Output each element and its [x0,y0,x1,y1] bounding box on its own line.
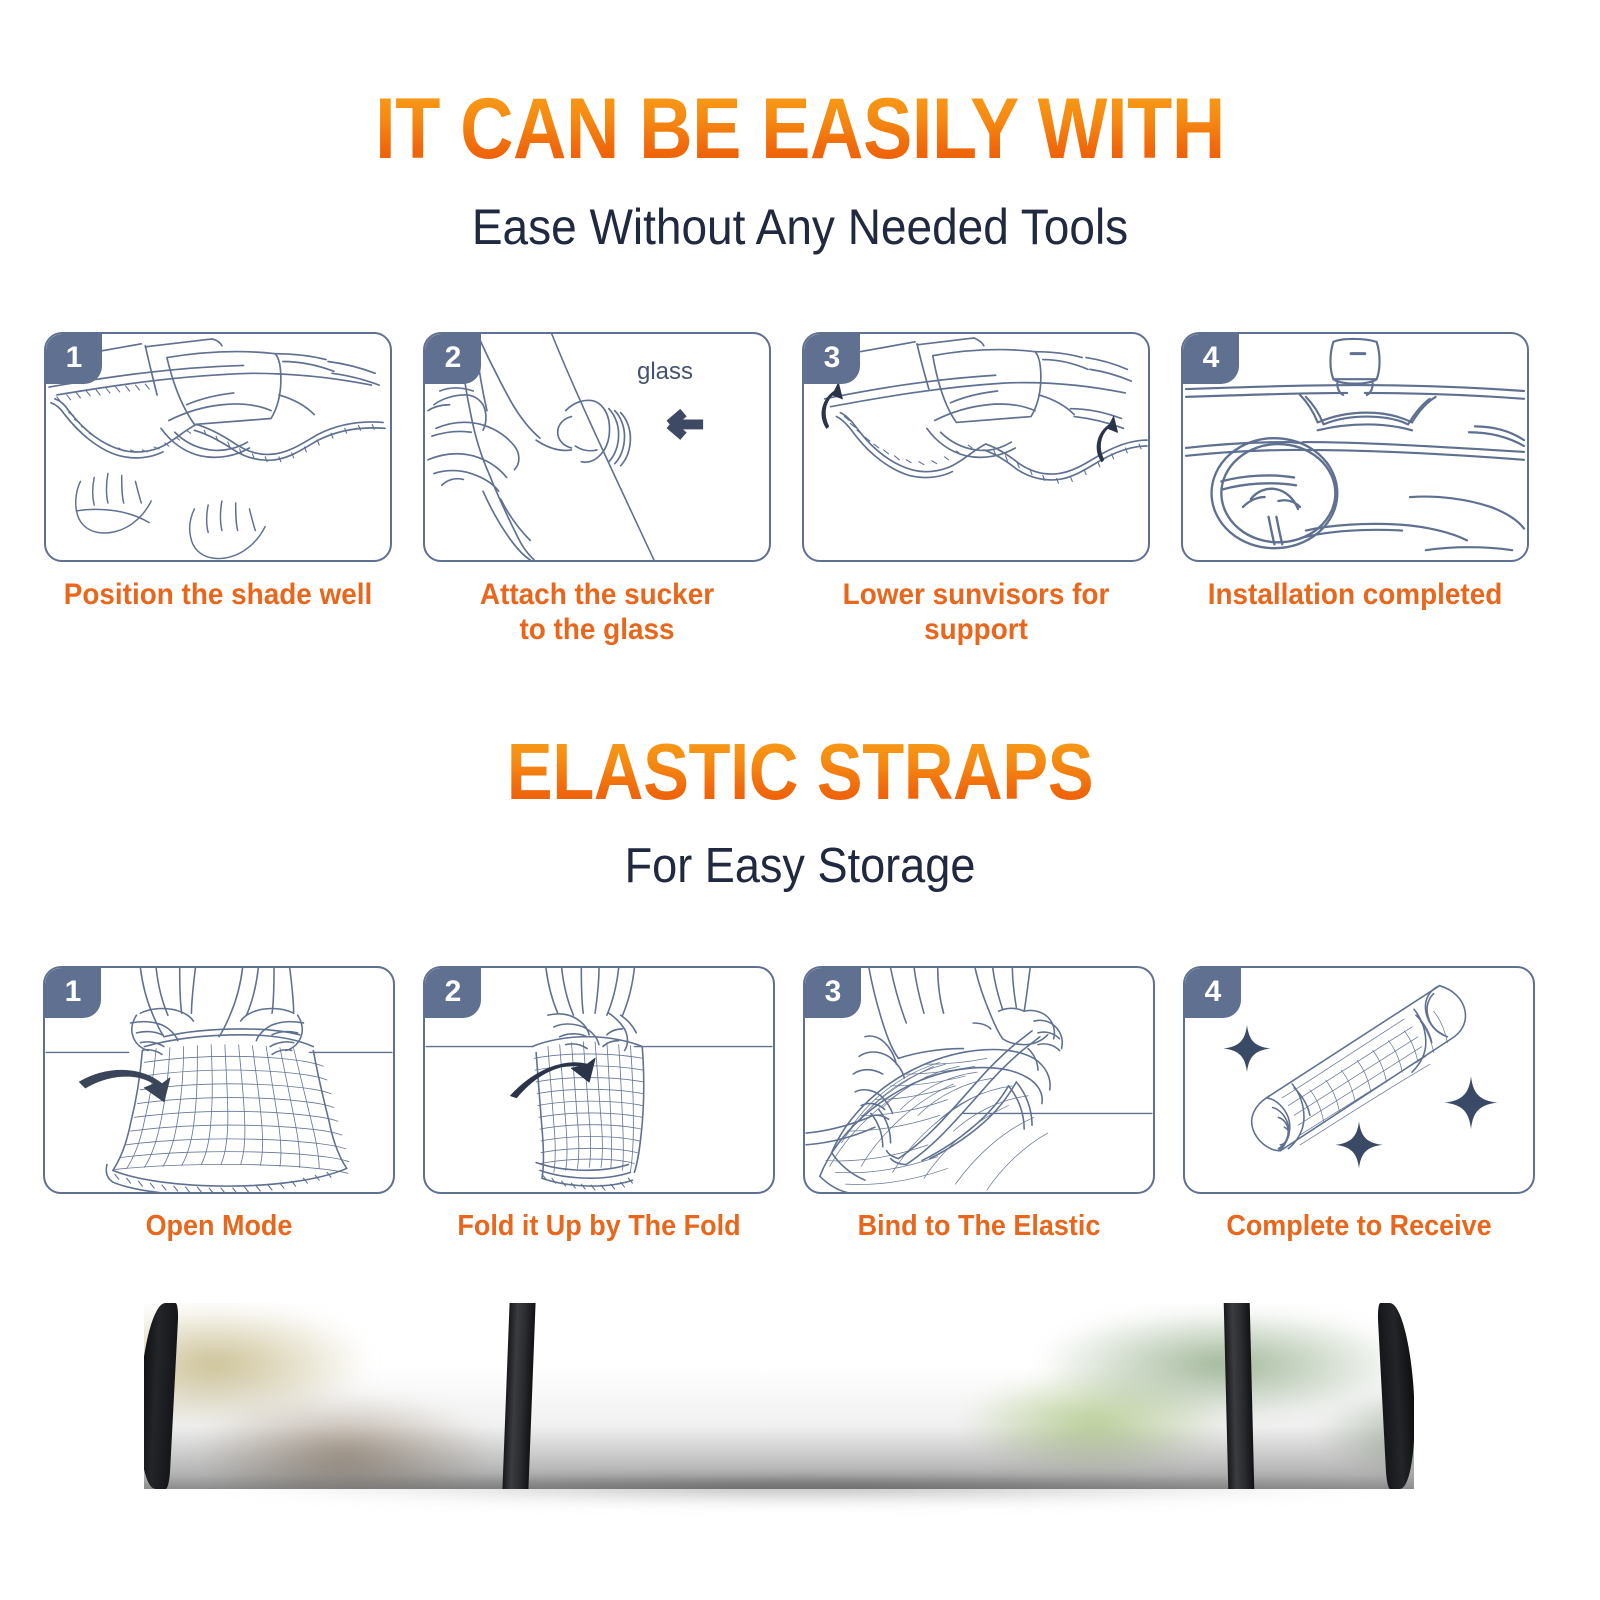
step-caption: Position the shade well [56,578,380,613]
step-caption: Complete to Receive [1195,1210,1522,1244]
section-two-title: ELASTIC STRAPS [112,732,1488,812]
step-card: 2 Fold it Up by The Fold [423,966,775,1244]
cylinder-shading [44,1303,1556,1489]
step-caption: Attach the sucker to the glass [435,578,759,648]
step-card: 4 Complete to Receive [1183,966,1535,1244]
step-number-badge: 1 [45,968,101,1018]
step-card: 1 Open Mode [43,966,395,1244]
section-two-heading: ELASTIC STRAPS For Easy Storage [0,732,1600,894]
step-card: 4 Installation completed [1181,332,1529,648]
step-number-badge: 4 [1183,334,1239,384]
step-illustration-panel: 1 [44,332,392,562]
install-steps-row: 1 Position the shade well [44,332,1556,648]
step-number-badge: 2 [425,968,481,1018]
step-caption: Fold it Up by The Fold [435,1210,762,1244]
step-caption: Bind to The Elastic [815,1210,1142,1244]
step-card: 3 Bind to The Elastic [803,966,1155,1244]
step-card: 3 Lower sunvisors for support [802,332,1150,648]
storage-steps-row: 1 Open Mode [43,966,1557,1244]
section-one-heading: IT CAN BE EASILY WITH Ease Without Any N… [0,86,1600,256]
section-one-subtitle: Ease Without Any Needed Tools [64,198,1536,256]
product-roll [44,1303,1556,1489]
step-number-badge: 2 [425,334,481,384]
section-one-title: IT CAN BE EASILY WITH [112,86,1488,172]
step-number-badge: 3 [805,968,861,1018]
step-caption: Lower sunvisors for support [814,578,1138,648]
elastic-strap [1224,1303,1255,1489]
step-caption: Installation completed [1193,578,1517,613]
step-illustration-panel: 4 [1181,332,1529,562]
step-number-badge: 4 [1185,968,1241,1018]
step-number-badge: 3 [804,334,860,384]
step-illustration-panel: 3 [803,966,1155,1194]
roll-right-trim [1414,1303,1556,1489]
step-illustration-panel: glass 2 [423,332,771,562]
roll-left-trim [44,1303,144,1489]
step-card: glass 2 Attach the sucker to the glass [423,332,771,648]
step-number-badge: 1 [46,334,102,384]
step-illustration-panel: 4 [1183,966,1535,1194]
step-illustration-panel: 1 [43,966,395,1194]
infographic-page: IT CAN BE EASILY WITH Ease Without Any N… [0,0,1600,1600]
glass-label: glass [637,358,693,386]
product-photo-rolled-sunshade [44,1303,1556,1508]
section-two-subtitle: For Easy Storage [64,838,1536,894]
step-illustration-panel: 3 [802,332,1150,562]
step-illustration-panel: 2 [423,966,775,1194]
step-card: 1 Position the shade well [44,332,392,648]
step-caption: Open Mode [55,1210,382,1244]
